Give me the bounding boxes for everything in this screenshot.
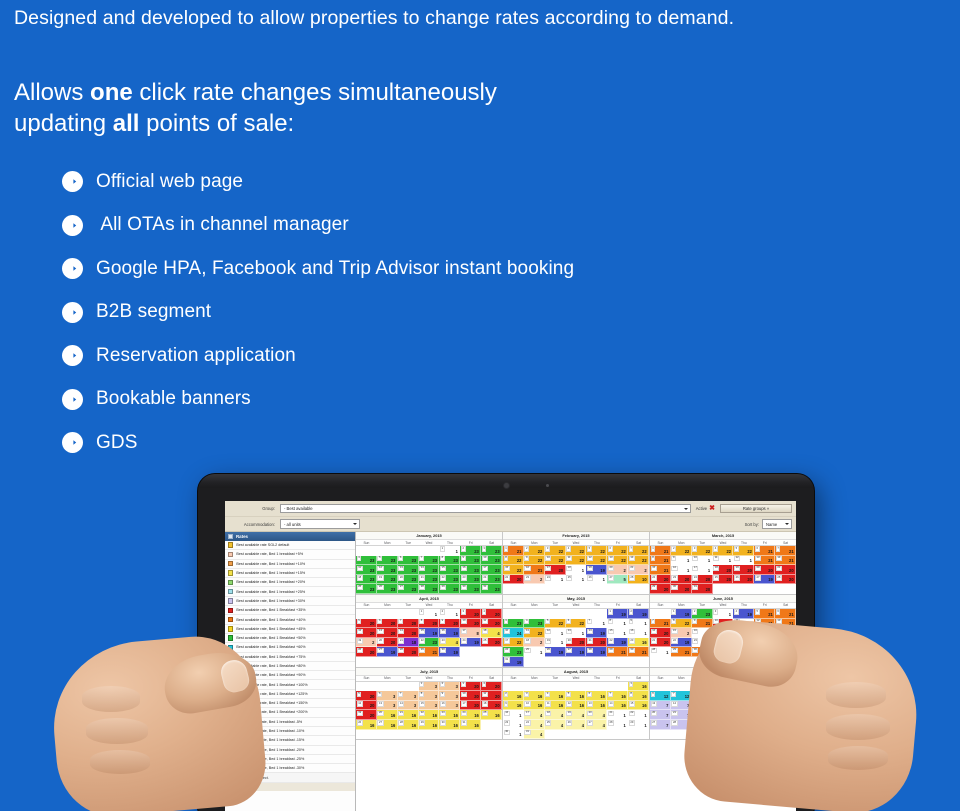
calendar-day-cell[interactable]: 93 <box>439 691 460 701</box>
calendar-day-cell[interactable]: 723 <box>419 556 440 566</box>
rate-legend-row[interactable]: Best available rate, Bed 1 breakfast +5% <box>225 550 355 559</box>
calendar-day-cell[interactable]: 1523 <box>439 565 460 575</box>
calendar-day-cell[interactable]: 821 <box>650 556 671 566</box>
calendar-day-cell[interactable]: 2118 <box>398 638 419 648</box>
calendar-day-cell[interactable]: 1722 <box>503 638 524 648</box>
calendar-day-cell[interactable]: 2219 <box>607 638 628 648</box>
calendar-day-cell[interactable]: 722 <box>628 546 649 556</box>
calendar-day-cell[interactable]: 1820 <box>481 701 502 711</box>
calendar-day-cell[interactable]: 2223 <box>439 575 460 585</box>
calendar-day-cell[interactable]: 3016 <box>439 720 460 730</box>
calendar-day-cell[interactable]: 2616 <box>356 720 377 730</box>
calendar-day-cell[interactable]: 622 <box>566 619 587 629</box>
calendar-day-cell[interactable]: 221 <box>628 710 649 720</box>
calendar-day-cell[interactable]: 2020 <box>377 638 398 648</box>
calendar-day-cell[interactable]: 1321 <box>775 619 796 629</box>
calendar-day-cell[interactable]: 812 <box>692 691 713 701</box>
calendar-day-cell[interactable]: 2921 <box>419 647 440 657</box>
calendar-day-cell[interactable]: 36 <box>733 682 754 692</box>
calendar-day-cell[interactable]: 241 <box>713 638 734 648</box>
calendar-day-cell[interactable]: 2419 <box>460 638 481 648</box>
calendar-day-cell[interactable]: 823 <box>439 556 460 566</box>
calendar-day-cell[interactable]: 2916 <box>419 720 440 730</box>
calendar-day-cell[interactable]: 1816 <box>733 628 754 638</box>
calendar-day-cell[interactable]: 1222 <box>586 556 607 566</box>
calendar-day-cell[interactable]: 1720 <box>460 701 481 711</box>
calendar-day-cell[interactable]: 3021 <box>692 647 713 657</box>
calendar-day-cell[interactable]: 2320 <box>671 575 692 585</box>
calendar-day-cell[interactable]: 2623 <box>377 584 398 594</box>
rate-legend-row[interactable]: Best available rate, Bed 1 breakfast -15… <box>225 736 355 745</box>
calendar-day-cell[interactable]: 1920 <box>356 710 377 720</box>
calendar-day-cell[interactable]: 2420 <box>692 575 713 585</box>
calendar-day-cell[interactable]: 131 <box>566 628 587 638</box>
calendar-day-cell[interactable]: 816 <box>628 691 649 701</box>
calendar-day-cell[interactable]: 1020 <box>460 691 481 701</box>
calendar-day-cell[interactable]: 1020 <box>713 619 734 629</box>
calendar-day-cell[interactable]: 223 <box>692 609 713 619</box>
calendar-day-cell[interactable]: 21 <box>439 609 460 619</box>
calendar-day-cell[interactable]: 1320 <box>377 628 398 638</box>
calendar-day-cell[interactable]: 116 <box>628 682 649 692</box>
calendar-day-cell[interactable]: 204 <box>586 710 607 720</box>
calendar-day-cell[interactable]: 323 <box>481 546 502 556</box>
rate-legend-row[interactable]: Best available rate, Bed 1 breakfast -25… <box>225 755 355 764</box>
calendar-day-cell[interactable]: 287 <box>671 720 692 730</box>
calendar-day-cell[interactable]: 2520 <box>713 575 734 585</box>
calendar-day-cell[interactable]: 122 <box>775 691 796 701</box>
calendar-day-cell[interactable]: 423 <box>356 556 377 566</box>
calendar-day-cell[interactable]: 2220 <box>503 575 524 585</box>
calendar-day-cell[interactable]: 251 <box>566 575 587 585</box>
calendar-day-cell[interactable]: 227 <box>692 710 713 720</box>
calendar-day-cell[interactable]: 2120 <box>775 565 796 575</box>
calendar-day-cell[interactable]: 111 <box>713 556 734 566</box>
calendar-day-cell[interactable]: 2423 <box>481 575 502 585</box>
calendar-day-cell[interactable]: 112 <box>754 691 775 701</box>
calendar-day-cell[interactable]: 1120 <box>481 691 502 701</box>
calendar-day-cell[interactable]: 2719 <box>754 575 775 585</box>
calendar-day-cell[interactable]: 1421 <box>775 556 796 566</box>
rate-legend-row[interactable]: Best available rate, Bed 1 breakfast -30… <box>225 764 355 773</box>
calendar-day-cell[interactable]: 616 <box>586 691 607 701</box>
calendar-day-cell[interactable]: 2810 <box>628 575 649 585</box>
red-x-icon[interactable]: ✖ <box>709 505 715 512</box>
calendar-day-cell[interactable]: 320 <box>460 682 481 692</box>
calendar-day-cell[interactable]: 83 <box>419 691 440 701</box>
calendar-day-cell[interactable]: 184 <box>481 628 502 638</box>
calendar-day-cell[interactable]: 119 <box>671 609 692 619</box>
calendar-day-cell[interactable]: 322 <box>692 546 713 556</box>
calendar-day-cell[interactable]: 1723 <box>481 565 502 575</box>
calendar-day-cell[interactable]: 2216 <box>419 710 440 720</box>
calendar-day-cell[interactable]: 1024 <box>503 628 524 638</box>
calendar-day-cell[interactable]: 1920 <box>733 565 754 575</box>
calendar-day-cell[interactable]: 2619 <box>545 647 566 657</box>
calendar-day-cell[interactable]: 277 <box>650 720 671 730</box>
calendar-day-cell[interactable]: 1416 <box>607 701 628 711</box>
calendar-day-cell[interactable]: 241 <box>545 575 566 585</box>
calendar-day-cell[interactable]: 521 <box>754 609 775 619</box>
calendar-day-cell[interactable]: 91 <box>671 556 692 566</box>
calendar-day-cell[interactable]: 96 <box>713 691 734 701</box>
calendar-day-cell[interactable]: 1223 <box>377 565 398 575</box>
calendar-day-cell[interactable]: 2223 <box>419 638 440 648</box>
calendar-day-cell[interactable]: 91 <box>628 619 649 629</box>
calendar-day-cell[interactable]: 232 <box>524 575 545 585</box>
calendar-day-cell[interactable]: 512 <box>775 682 796 692</box>
calendar-day-cell[interactable]: 623 <box>398 556 419 566</box>
calendar-day-cell[interactable]: 222 <box>671 546 692 556</box>
calendar-day-cell[interactable]: 301 <box>503 730 524 740</box>
rate-legend-row[interactable]: Best available rate, Bed 1 Breakfast +75… <box>225 653 355 662</box>
calendar-day-cell[interactable]: 194 <box>566 710 587 720</box>
calendar-day-cell[interactable]: 2316 <box>628 638 649 648</box>
calendar-day-cell[interactable]: 254 <box>754 710 775 720</box>
calendar-day-cell[interactable]: 1122 <box>524 628 545 638</box>
calendar-day-cell[interactable]: 522 <box>733 546 754 556</box>
calendar-day-cell[interactable]: 212 <box>628 565 649 575</box>
rate-legend-row[interactable]: Best available rate, Bed 1 breakfast -20… <box>225 746 355 755</box>
calendar-day-cell[interactable]: 2023 <box>775 628 796 638</box>
rate-calendar[interactable]: January, 2015SunMonTueWedThuFriSat112233… <box>356 532 796 811</box>
calendar-day-cell[interactable]: 111 <box>733 619 754 629</box>
calendar-day-cell[interactable]: 234 <box>439 638 460 648</box>
calendar-day-cell[interactable]: 174 <box>524 710 545 720</box>
calendar-day-cell[interactable]: 1422 <box>628 556 649 566</box>
calendar-day-cell[interactable]: 1419 <box>586 628 607 638</box>
calendar-day-cell[interactable]: 182 <box>754 701 775 711</box>
calendar-day-cell[interactable]: 2921 <box>607 647 628 657</box>
calendar-day-cell[interactable]: 916 <box>503 701 524 711</box>
calendar-day-cell[interactable]: 612 <box>650 691 671 701</box>
rate-legend-row[interactable]: Best available rate, Bed 1 Breakfast +60… <box>225 643 355 652</box>
calendar-day-cell[interactable]: 23 <box>439 682 460 692</box>
calendar-day-cell[interactable]: 2816 <box>398 720 419 730</box>
calendar-day-cell[interactable]: 522 <box>586 546 607 556</box>
calendar-day-cell[interactable]: 2416 <box>460 710 481 720</box>
calendar-day-cell[interactable]: 1122 <box>566 556 587 566</box>
calendar-day-cell[interactable]: 2123 <box>419 575 440 585</box>
calendar-day-cell[interactable]: 307 <box>713 720 734 730</box>
calendar-day-cell[interactable]: 106 <box>733 691 754 701</box>
rate-legend-row[interactable]: Best available rate, Bed 1 Breakfast +45… <box>225 625 355 634</box>
calendar-day-cell[interactable]: 291 <box>628 720 649 730</box>
calendar-day-cell[interactable]: 3023 <box>460 584 481 594</box>
calendar-day-cell[interactable]: 161 <box>671 565 692 575</box>
rate-legend-row[interactable]: Best available rate, Bed 1 Breakfast +20… <box>225 708 355 717</box>
calendar-day-cell[interactable]: 420 <box>481 682 502 692</box>
rate-legend-row[interactable]: Best available rate, Bed 1 Breakfast +90… <box>225 671 355 680</box>
calendar-day-cell[interactable]: 416 <box>545 691 566 701</box>
calendar-day-cell[interactable]: 422 <box>566 546 587 556</box>
calendar-day-cell[interactable]: 153 <box>419 701 440 711</box>
calendar-day-cell[interactable]: 523 <box>377 556 398 566</box>
calendar-day-cell[interactable]: 202 <box>607 565 628 575</box>
calendar-day-cell[interactable]: 147 <box>671 701 692 711</box>
group-select[interactable]: - Best available <box>280 504 691 514</box>
calendar-day-cell[interactable]: 2316 <box>439 710 460 720</box>
rate-legend-row[interactable]: Best available rate, Bed 1 breakfast -5% <box>225 718 355 727</box>
calendar-day-cell[interactable]: 1423 <box>419 565 440 575</box>
calendar-day-cell[interactable]: 922 <box>524 556 545 566</box>
calendar-day-cell[interactable]: 921 <box>692 619 713 629</box>
calendar-day-cell[interactable]: 222 <box>524 546 545 556</box>
rate-legend-row[interactable]: Best available rate, Bed 1 breakfast +30… <box>225 597 355 606</box>
rate-legend-row[interactable]: Best available rate, Bed 1 Breakfast +80… <box>225 662 355 671</box>
sort-by-select[interactable]: Name <box>762 519 792 529</box>
calendar-day-cell[interactable]: 820 <box>419 619 440 629</box>
calendar-day-cell[interactable]: 516 <box>566 691 587 701</box>
calendar-day-cell[interactable]: 191 <box>754 628 775 638</box>
calendar-day-cell[interactable]: 2116 <box>398 710 419 720</box>
calendar-day-cell[interactable]: 1716 <box>713 628 734 638</box>
rate-legend-row[interactable]: Best available rate, Bed 1 breakfast +10… <box>225 560 355 569</box>
calendar-day-cell[interactable]: 1823 <box>356 575 377 585</box>
calendar-day-cell[interactable]: 716 <box>607 691 628 701</box>
calendar-day-cell[interactable]: 262 <box>775 710 796 720</box>
calendar-day-cell[interactable]: 822 <box>671 619 692 629</box>
calendar-day-cell[interactable]: 1020 <box>460 619 481 629</box>
calendar-day-cell[interactable]: 422 <box>713 546 734 556</box>
calendar-day-cell[interactable]: 1420 <box>398 628 419 638</box>
calendar-day-cell[interactable]: 119 <box>607 609 628 619</box>
calendar-day-cell[interactable]: 133 <box>377 701 398 711</box>
calendar-day-cell[interactable]: 2921 <box>671 647 692 657</box>
calendar-day-cell[interactable]: 2716 <box>377 720 398 730</box>
calendar-day-cell[interactable]: 419 <box>733 609 754 619</box>
calendar-day-cell[interactable]: 2520 <box>481 638 502 648</box>
calendar-day-cell[interactable]: 1220 <box>356 628 377 638</box>
calendar-day-cell[interactable]: 192 <box>356 638 377 648</box>
calendar-day-cell[interactable]: 73 <box>398 691 419 701</box>
calendar-day-cell[interactable]: 281 <box>650 647 671 657</box>
calendar-day-cell[interactable]: 721 <box>650 619 671 629</box>
calendar-day-cell[interactable]: 920 <box>439 619 460 629</box>
calendar-day-cell[interactable]: 182 <box>524 638 545 648</box>
calendar-day-cell[interactable]: 1420 <box>650 628 671 638</box>
calendar-day-cell[interactable]: 1123 <box>356 565 377 575</box>
calendar-day-cell[interactable]: 191 <box>545 638 566 648</box>
calendar-day-cell[interactable]: 2820 <box>398 647 419 657</box>
calendar-day-cell[interactable]: 171 <box>692 565 713 575</box>
calendar-day-cell[interactable]: 11 <box>419 609 440 619</box>
calendar-day-cell[interactable]: 1022 <box>545 556 566 566</box>
calendar-day-cell[interactable]: 261 <box>754 638 775 648</box>
calendar-day-cell[interactable]: 1116 <box>545 701 566 711</box>
calendar-day-cell[interactable]: 163 <box>439 701 460 711</box>
calendar-day-cell[interactable]: 2020 <box>754 565 775 575</box>
calendar-day-cell[interactable]: 2016 <box>377 710 398 720</box>
calendar-day-cell[interactable]: 157 <box>692 701 713 711</box>
calendar-day-cell[interactable]: 2120 <box>650 638 671 648</box>
calendar-day-cell[interactable]: 223 <box>460 546 481 556</box>
calendar-day-cell[interactable]: 2719 <box>566 647 587 657</box>
calendar-day-cell[interactable]: 3021 <box>628 647 649 657</box>
calendar-day-cell[interactable]: 412 <box>754 682 775 692</box>
calendar-day-cell[interactable]: 520 <box>356 619 377 629</box>
calendar-day-cell[interactable]: 3119 <box>503 657 524 667</box>
calendar-day-cell[interactable]: 2620 <box>733 575 754 585</box>
calendar-day-cell[interactable]: 314 <box>524 730 545 740</box>
calendar-day-cell[interactable]: 620 <box>377 619 398 629</box>
calendar-day-cell[interactable]: 16 <box>692 682 713 692</box>
calendar-day-cell[interactable]: 3020 <box>671 584 692 594</box>
accommodation-select[interactable]: - all units <box>280 519 360 529</box>
calendar-day-cell[interactable]: 3120 <box>692 584 713 594</box>
calendar-day-cell[interactable]: 2719 <box>377 647 398 657</box>
calendar-day-cell[interactable]: 151 <box>607 628 628 638</box>
calendar-day-cell[interactable]: 3019 <box>439 647 460 657</box>
calendar-day-cell[interactable]: 2023 <box>398 575 419 585</box>
calendar-day-cell[interactable]: 621 <box>754 546 775 556</box>
rate-legend-row[interactable]: Best available rate, Bed 1 Breakfast +12… <box>225 690 355 699</box>
calendar-day-cell[interactable]: 219 <box>628 609 649 619</box>
calendar-day-cell[interactable]: 137 <box>650 701 671 711</box>
calendar-day-cell[interactable]: 712 <box>671 691 692 701</box>
calendar-day-cell[interactable]: 11 <box>439 546 460 556</box>
calendar-day-cell[interactable]: 143 <box>398 701 419 711</box>
calendar-day-cell[interactable]: 1516 <box>628 701 649 711</box>
calendar-day-cell[interactable]: 281 <box>607 720 628 730</box>
rate-legend-row[interactable]: Best available rate, Bed 1 Breakfast +10… <box>225 680 355 689</box>
calendar-day-cell[interactable]: 192 <box>775 701 796 711</box>
calendar-day-cell[interactable]: 81 <box>607 619 628 629</box>
calendar-day-cell[interactable]: 2219 <box>671 638 692 648</box>
calendar-day-cell[interactable]: 172 <box>733 701 754 711</box>
calendar-day-cell[interactable]: 254 <box>545 720 566 730</box>
calendar-day-cell[interactable]: 1623 <box>460 565 481 575</box>
rate-legend-row[interactable]: Best available rate, Bed 1 breakfast -10… <box>225 727 355 736</box>
calendar-day-cell[interactable]: 2819 <box>586 647 607 657</box>
calendar-day-cell[interactable]: 275 <box>607 575 628 585</box>
rate-groups-button[interactable]: Rate groups » <box>720 504 792 514</box>
calendar-day-cell[interactable]: 26 <box>713 682 734 692</box>
calendar-day-cell[interactable]: 13 <box>419 682 440 692</box>
calendar-day-cell[interactable]: 1023 <box>481 556 502 566</box>
calendar-day-cell[interactable]: 420 <box>481 609 502 619</box>
rate-legend-row[interactable]: Best available rate SGL2 default <box>225 541 355 550</box>
calendar-day-cell[interactable]: 322 <box>545 546 566 556</box>
rate-legend-row[interactable]: Best available rate, Bed 1 breakfast +20… <box>225 578 355 587</box>
calendar-day-cell[interactable]: 423 <box>524 619 545 629</box>
calendar-day-cell[interactable]: 323 <box>503 619 524 629</box>
calendar-day-cell[interactable]: 121 <box>650 546 671 556</box>
calendar-day-cell[interactable]: 1220 <box>356 701 377 711</box>
calendar-day-cell[interactable]: 2620 <box>356 647 377 657</box>
rate-legend-row[interactable]: Best available rate, Bed 1 breakfast +25… <box>225 587 355 596</box>
calendar-day-cell[interactable]: 1720 <box>545 565 566 575</box>
calendar-day-cell[interactable]: 1820 <box>713 565 734 575</box>
calendar-day-cell[interactable]: 522 <box>545 619 566 629</box>
calendar-day-cell[interactable]: 1519 <box>419 628 440 638</box>
rate-legend-row[interactable]: Best available rate, Bed 1 Breakfast +35… <box>225 606 355 615</box>
calendar-day-cell[interactable]: 1323 <box>398 565 419 575</box>
calendar-day-cell[interactable]: 207 <box>650 710 671 720</box>
calendar-day-cell[interactable]: 178 <box>460 628 481 638</box>
calendar-day-cell[interactable]: 1316 <box>586 701 607 711</box>
calendar-day-cell[interactable]: 2523 <box>356 584 377 594</box>
calendar-day-cell[interactable]: 71 <box>586 619 607 629</box>
calendar-day-cell[interactable]: 721 <box>775 546 796 556</box>
calendar-day-cell[interactable]: 231 <box>692 638 713 648</box>
calendar-day-cell[interactable]: 1120 <box>481 619 502 629</box>
rate-legend-row[interactable]: Best available rate, Bed 1 Breakfast +40… <box>225 615 355 624</box>
rate-legend-row[interactable]: Best available rate, Bed 1 breakfast +15… <box>225 569 355 578</box>
calendar-day-cell[interactable]: 1321 <box>754 556 775 566</box>
calendar-day-cell[interactable]: 3123 <box>481 584 502 594</box>
calendar-day-cell[interactable]: 1919 <box>586 565 607 575</box>
calendar-day-cell[interactable]: 216 <box>503 691 524 701</box>
calendar-day-cell[interactable]: 121 <box>733 556 754 566</box>
calendar-day-cell[interactable]: 1619 <box>439 628 460 638</box>
advanced-button[interactable]: Advanced » <box>225 783 355 791</box>
checkbox-icon[interactable] <box>228 534 233 539</box>
calendar-day-cell[interactable]: 231 <box>503 720 524 730</box>
calendar-day-cell[interactable]: 2820 <box>775 575 796 585</box>
calendar-day-cell[interactable]: 2423 <box>503 647 524 657</box>
calendar-day-cell[interactable]: 2923 <box>439 584 460 594</box>
calendar-day-cell[interactable]: 297 <box>692 720 713 730</box>
calendar-day-cell[interactable]: 211 <box>607 710 628 720</box>
calendar-day-cell[interactable]: 720 <box>398 619 419 629</box>
calendar-day-cell[interactable]: 152 <box>671 628 692 638</box>
calendar-day-cell[interactable]: 2020 <box>566 638 587 648</box>
calendar-day-cell[interactable]: 121 <box>503 546 524 556</box>
calendar-day-cell[interactable]: 244 <box>524 720 545 730</box>
calendar-day-cell[interactable]: 264 <box>566 720 587 730</box>
rate-legend-row[interactable]: Best available rate, Bed 1 Breakfast +50… <box>225 634 355 643</box>
calendar-day-cell[interactable]: 621 <box>775 609 796 619</box>
calendar-day-cell[interactable]: 1923 <box>377 575 398 585</box>
calendar-day-cell[interactable]: 520 <box>356 691 377 701</box>
calendar-day-cell[interactable]: 101 <box>692 556 713 566</box>
active-indicator[interactable]: Active ✖ <box>696 505 715 512</box>
calendar-day-cell[interactable]: 622 <box>607 546 628 556</box>
calendar-day-cell[interactable]: 1016 <box>524 701 545 711</box>
calendar-day-cell[interactable]: 121 <box>545 628 566 638</box>
calendar-day-cell[interactable]: 2723 <box>398 584 419 594</box>
calendar-day-cell[interactable]: 1216 <box>566 701 587 711</box>
calendar-day-cell[interactable]: 217 <box>671 710 692 720</box>
calendar-day-cell[interactable]: 923 <box>460 556 481 566</box>
calendar-day-cell[interactable]: 261 <box>586 575 607 585</box>
calendar-day-cell[interactable]: 316 <box>524 691 545 701</box>
calendar-day-cell[interactable]: 63 <box>377 691 398 701</box>
calendar-day-cell[interactable]: 2120 <box>586 638 607 648</box>
calendar-day-cell[interactable]: 272 <box>775 638 796 648</box>
calendar-day-cell[interactable]: 184 <box>545 710 566 720</box>
calendar-day-cell[interactable]: 161 <box>503 710 524 720</box>
calendar-day-cell[interactable]: 237 <box>713 710 734 720</box>
calendar-day-cell[interactable]: 2823 <box>419 584 440 594</box>
calendar-day-cell[interactable]: 1619 <box>713 701 734 711</box>
calendar-day-cell[interactable]: 161 <box>628 628 649 638</box>
calendar-day-cell[interactable]: 161 <box>692 628 713 638</box>
calendar-day-cell[interactable]: 3116 <box>460 720 481 730</box>
calendar-day-cell[interactable]: 1522 <box>503 565 524 575</box>
calendar-day-cell[interactable]: 822 <box>503 556 524 566</box>
calendar-day-cell[interactable]: 1521 <box>650 565 671 575</box>
calendar-day-cell[interactable]: 320 <box>460 609 481 619</box>
calendar-day-cell[interactable]: 251 <box>524 647 545 657</box>
calendar-day-cell[interactable]: 2920 <box>650 584 671 594</box>
calendar-day-cell[interactable]: 2220 <box>650 575 671 585</box>
rate-legend-row[interactable]: Best available rate, Bed 1 Breakfast +15… <box>225 699 355 708</box>
calendar-day-cell[interactable]: 2323 <box>460 575 481 585</box>
calendar-day-cell[interactable]: 31 <box>713 609 734 619</box>
calendar-day-cell[interactable]: 251 <box>733 638 754 648</box>
